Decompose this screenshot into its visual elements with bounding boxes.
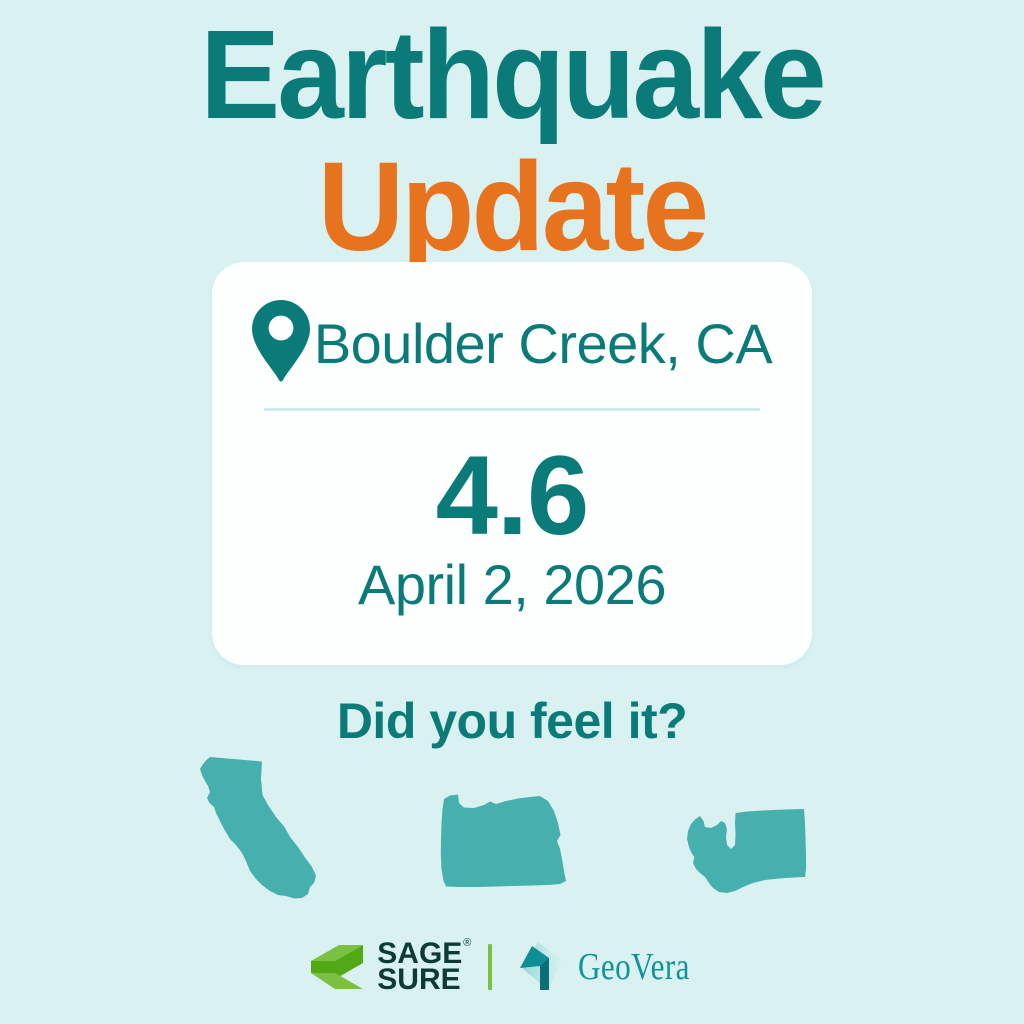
logo-divider [488, 944, 492, 990]
geovera-logo[interactable]: GeoVera [518, 940, 714, 994]
tagline: Did you feel it? [0, 692, 1024, 750]
sagesure-leaf-icon [309, 943, 365, 991]
oregon-state-icon [440, 787, 572, 892]
page-title: Earthquake Update [0, 12, 1024, 270]
washington-state-icon [685, 807, 807, 899]
sagesure-wordmark: SAGE SURE ® [377, 941, 462, 993]
state-silhouettes [0, 752, 1024, 912]
headline-line-2: Update [26, 144, 999, 270]
sagesure-logo[interactable]: SAGE SURE ® [309, 941, 462, 993]
event-date: April 2, 2026 [212, 552, 812, 617]
headline-line-1: Earthquake [26, 12, 999, 138]
location-pin-icon [252, 300, 310, 382]
logo-bar: SAGE SURE ® GeoVera [0, 936, 1024, 998]
location-label: Boulder Creek, CA [314, 311, 772, 376]
earthquake-info-card: Boulder Creek, CA 4.6 April 2, 2026 [212, 262, 812, 665]
card-divider [264, 408, 760, 411]
geovera-gem-icon [518, 940, 564, 994]
magnitude-value: 4.6 [212, 440, 812, 552]
trademark-symbol: ® [463, 939, 471, 948]
earthquake-update-poster: Earthquake Update Boulder Creek, CA 4.6 … [0, 0, 1024, 1024]
california-state-icon [198, 755, 318, 900]
location-row: Boulder Creek, CA [212, 304, 812, 382]
geovera-wordmark: GeoVera [578, 945, 690, 989]
sagesure-word-line-2: SURE [377, 967, 462, 993]
